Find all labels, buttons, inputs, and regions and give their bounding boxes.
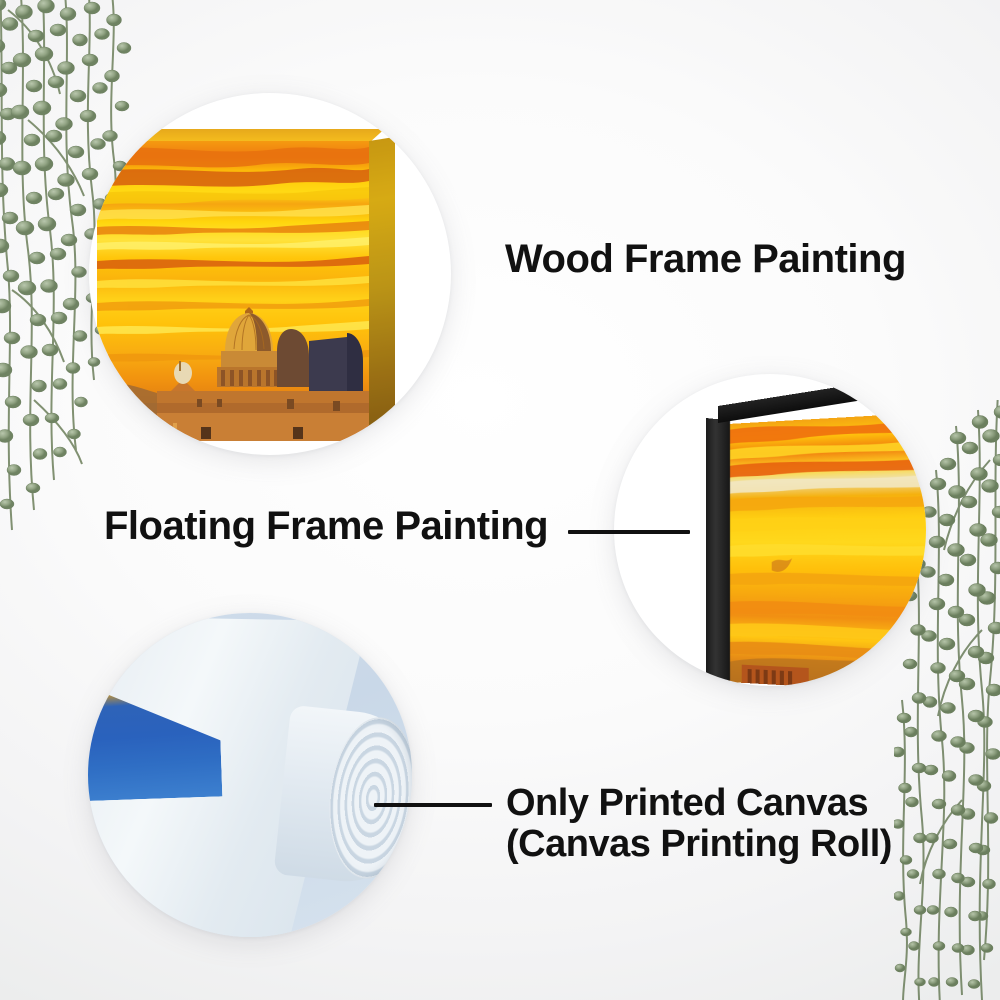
sunset-sky-painting-icon — [728, 410, 926, 686]
label-floating-frame-painting: Floating Frame Painting — [104, 505, 548, 548]
label-printed-canvas-line1: Only Printed Canvas — [506, 782, 868, 824]
label-wood-frame-painting: Wood Frame Painting — [505, 238, 906, 281]
leader-line-printed-canvas — [374, 803, 492, 807]
floating-frame-black-left-edge — [706, 418, 730, 683]
wood-frame-wrapped-side-edge — [369, 137, 395, 441]
label-printed-canvas-line2: (Canvas Printing Roll) — [506, 824, 892, 865]
label-only-printed-canvas: Only Printed Canvas (Canvas Printing Rol… — [506, 783, 892, 865]
floating-frame-canvas-image — [706, 410, 926, 678]
sunset-basilica-painting-icon — [97, 141, 369, 441]
wood-frame-artwork-face — [97, 141, 369, 441]
product-circle-canvas-roll[interactable] — [88, 613, 412, 937]
canvas-roll-image — [88, 613, 412, 937]
product-circle-wood-frame[interactable] — [89, 93, 451, 455]
wood-frame-canvas-image — [97, 141, 369, 441]
leader-line-floating-frame — [568, 530, 690, 534]
floating-frame-artwork-face — [728, 410, 926, 686]
infographic-canvas: Wood Frame Painting Floating Frame Paint… — [0, 0, 1000, 1000]
